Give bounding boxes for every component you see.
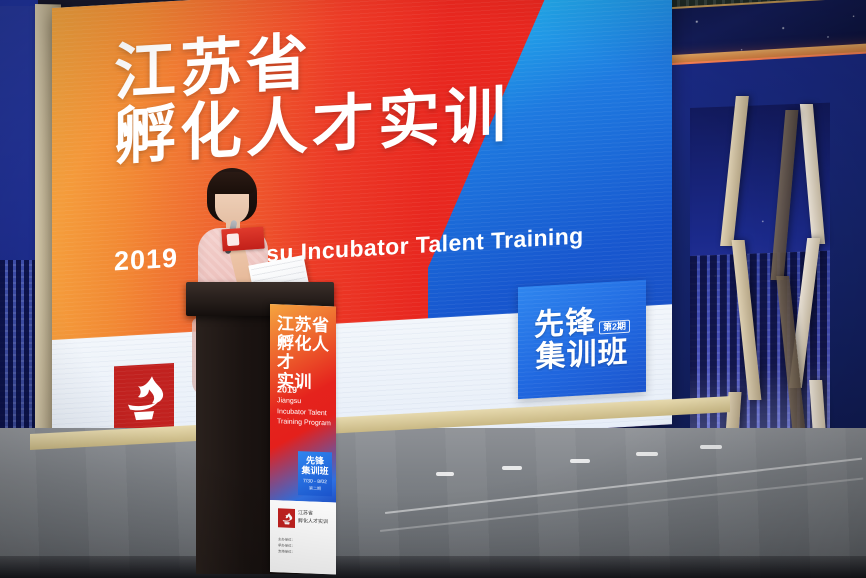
flame-torch-icon bbox=[122, 372, 166, 425]
backdrop-badge: 先锋 第2期 集训班 bbox=[518, 280, 646, 399]
podium-sign-graphic: 江苏省 孵化人才 实训 2019 Jiangsu Incubator Talen… bbox=[270, 304, 336, 503]
floor-tape-mark-4 bbox=[636, 452, 658, 456]
podium-sign-badge: 先锋 集训班 7/30 - 8/02 第二期 bbox=[298, 451, 332, 496]
podium: 江苏省 孵化人才 实训 2019 Jiangsu Incubator Talen… bbox=[196, 282, 324, 574]
podium-sign-title: 江苏省 孵化人才 实训 bbox=[277, 314, 336, 392]
flame-torch-logo bbox=[114, 363, 174, 434]
podium-flame-logo bbox=[278, 508, 295, 528]
podium-sign-english: Jiangsu Incubator Talent Training Progra… bbox=[277, 396, 331, 430]
red-microphone-flag bbox=[221, 227, 264, 252]
badge-line1: 先锋 bbox=[534, 307, 596, 341]
flame-torch-icon-small bbox=[281, 511, 293, 525]
podium-fine-print: 主办单位： 承办单位： 支持单位： bbox=[278, 536, 330, 556]
floor-tape-mark-5 bbox=[700, 445, 722, 449]
podium-sign-year: 2019 bbox=[277, 384, 297, 395]
podium-title-line1: 江苏省 bbox=[277, 314, 336, 335]
backdrop-year: 2019 bbox=[114, 243, 178, 278]
floor-tape-mark-3 bbox=[570, 459, 590, 463]
podium-sign: 江苏省 孵化人才 实训 2019 Jiangsu Incubator Talen… bbox=[270, 304, 336, 575]
podium-badge-dates: 7/30 - 8/02 bbox=[303, 478, 327, 485]
floor-tape-mark-1 bbox=[436, 472, 454, 476]
podium-badge-line2: 集训班 bbox=[301, 466, 328, 476]
backdrop-title: 江苏省 孵化人才实训 bbox=[114, 20, 510, 171]
led-gradient-surface: 江苏省 孵化人才实训 2019 Jiangsu Incubator Talent… bbox=[52, 0, 672, 460]
floor-tape-mark-2 bbox=[502, 466, 522, 470]
speaker-hair-front bbox=[209, 172, 255, 194]
badge-line2: 集训班 bbox=[536, 335, 629, 373]
podium-badge-line1: 先锋 bbox=[306, 456, 324, 466]
podium-fine-line3: 支持单位： bbox=[278, 549, 330, 557]
podium-title-line2: 孵化人才 bbox=[277, 333, 336, 373]
badge-superscript: 第2期 bbox=[599, 319, 630, 334]
podium-logo-text-line2: 孵化人才实训 bbox=[298, 518, 328, 527]
podium-logo-text: 江苏省 孵化人才实训 bbox=[298, 510, 328, 526]
stage-scene: 江苏省 孵化人才实训 2019 Jiangsu Incubator Talent… bbox=[0, 0, 866, 578]
podium-english-line2: Training Program bbox=[277, 417, 331, 430]
led-backdrop: 江苏省 孵化人才实训 2019 Jiangsu Incubator Talent… bbox=[52, 0, 672, 460]
podium-sign-footer: 江苏省 孵化人才实训 主办单位： 承办单位： 支持单位： bbox=[270, 500, 336, 575]
podium-badge-dates-sub: 第二期 bbox=[309, 485, 321, 491]
podium-english-line1: Jiangsu Incubator Talent bbox=[277, 396, 331, 419]
stage-front-shadow bbox=[0, 556, 866, 578]
